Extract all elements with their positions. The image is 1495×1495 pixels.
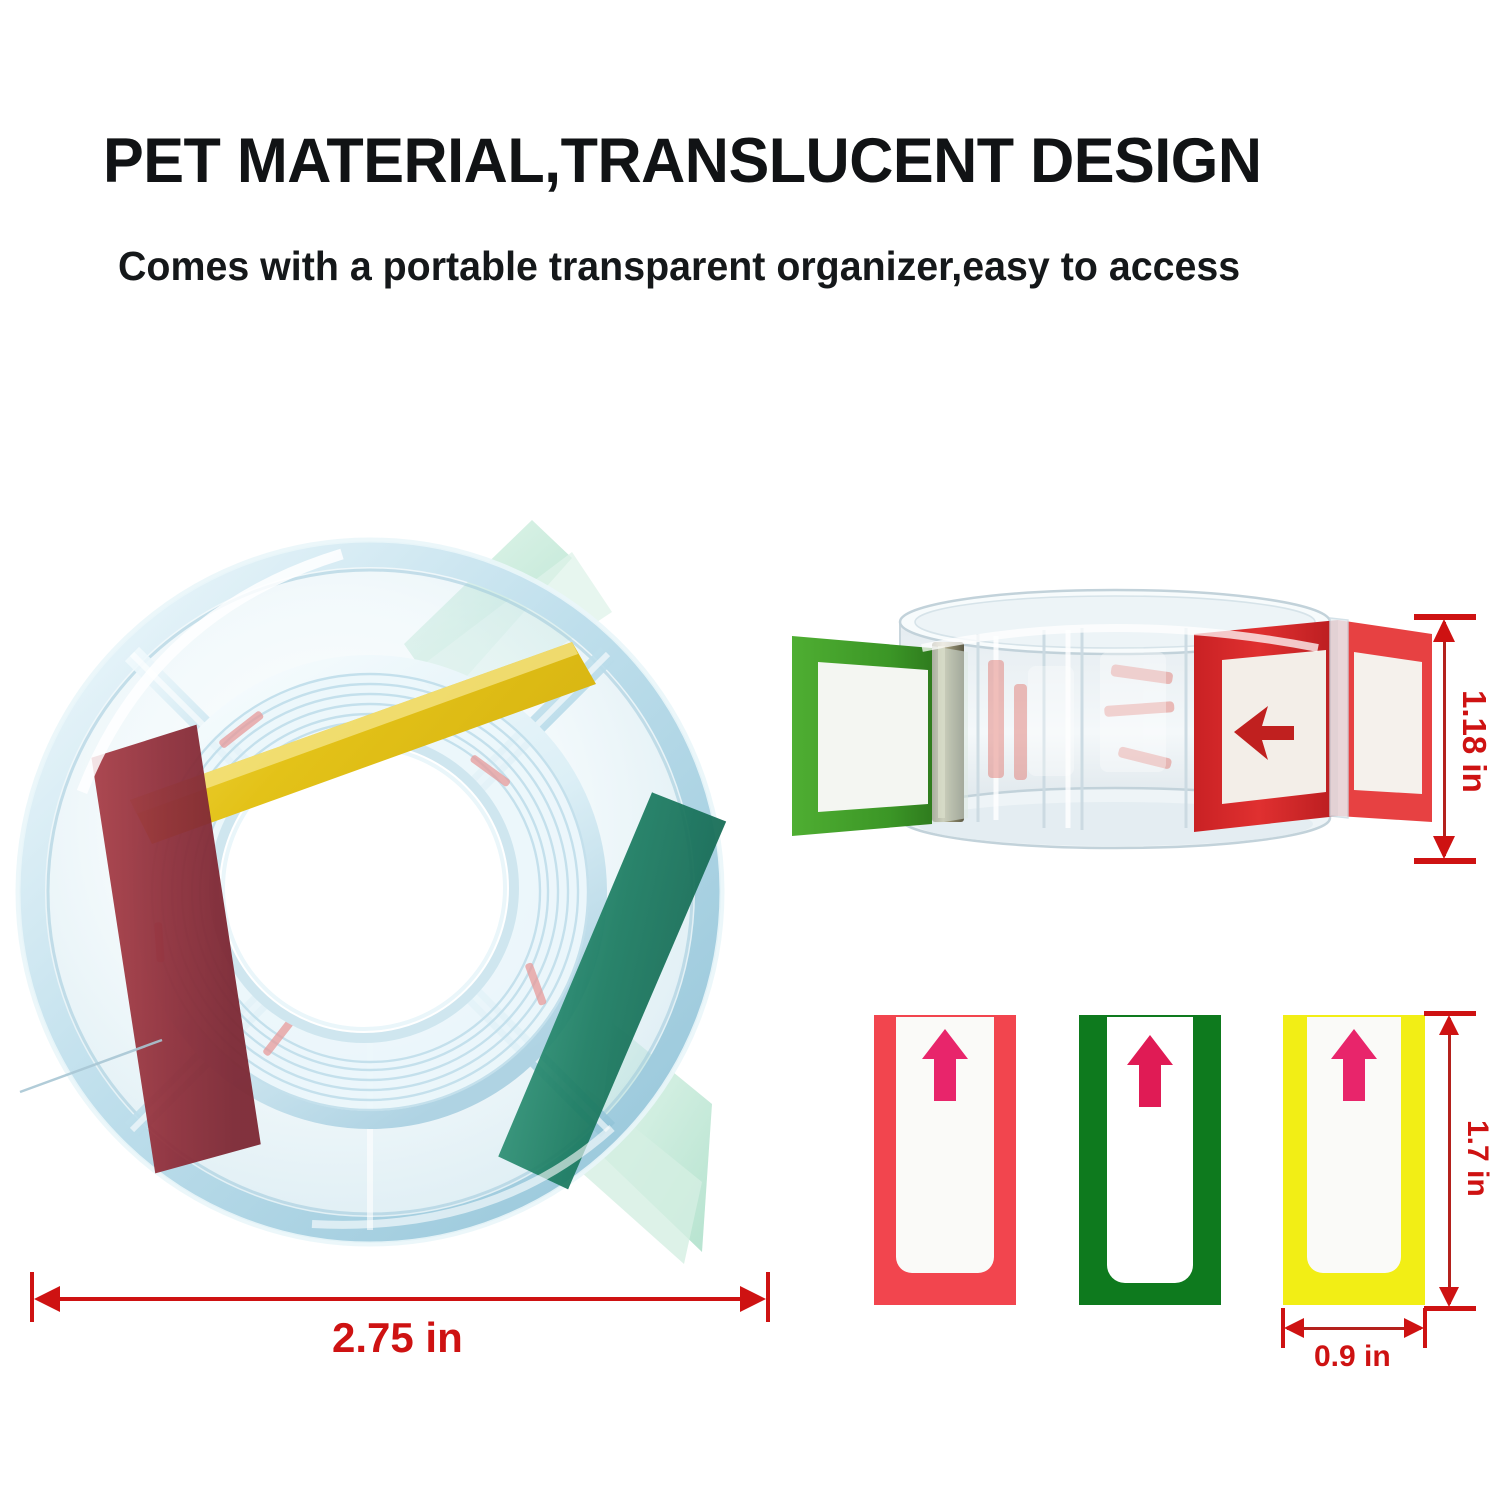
flag-width-label: 0.9 in	[1314, 1340, 1391, 1374]
dispenser-green-flag	[792, 636, 968, 836]
flag-tab-green	[1077, 1011, 1223, 1309]
arrowhead-up-icon	[1433, 619, 1455, 642]
reel-width-label: 2.75 in	[332, 1314, 463, 1362]
arrowhead-right-icon	[740, 1286, 766, 1312]
dimension-bar	[1287, 1327, 1421, 1330]
arrowhead-left-icon	[34, 1286, 60, 1312]
flag-height-dimension	[1438, 1011, 1462, 1311]
arrowhead-down-icon	[1433, 836, 1455, 859]
product-infographic: PET MATERIAL,TRANSLUCENT DESIGN Comes wi…	[0, 0, 1495, 1495]
flag-width-dimension	[1281, 1318, 1427, 1340]
dispenser-image	[782, 556, 1442, 886]
dimension-tick-right	[766, 1272, 770, 1322]
page-title: PET MATERIAL,TRANSLUCENT DESIGN	[103, 129, 1403, 193]
dimension-bar	[1443, 622, 1446, 856]
flag-tab-yellow	[1281, 1011, 1427, 1309]
arrowhead-down-icon	[1439, 1287, 1459, 1307]
reel-organizer-image	[12, 492, 772, 1292]
dimension-bar	[38, 1297, 762, 1301]
reel-width-dimension	[30, 1286, 770, 1312]
dispenser-height-label: 1.18 in	[1455, 690, 1493, 793]
arrowhead-left-icon	[1284, 1318, 1304, 1338]
dimension-bar	[1448, 1018, 1451, 1304]
flag-height-label: 1.7 in	[1460, 1120, 1494, 1197]
arrowhead-up-icon	[1439, 1015, 1459, 1035]
page-subtitle: Comes with a portable transparent organi…	[118, 245, 1395, 288]
arrowhead-right-icon	[1404, 1318, 1424, 1338]
flag-tab-red	[872, 1011, 1018, 1309]
